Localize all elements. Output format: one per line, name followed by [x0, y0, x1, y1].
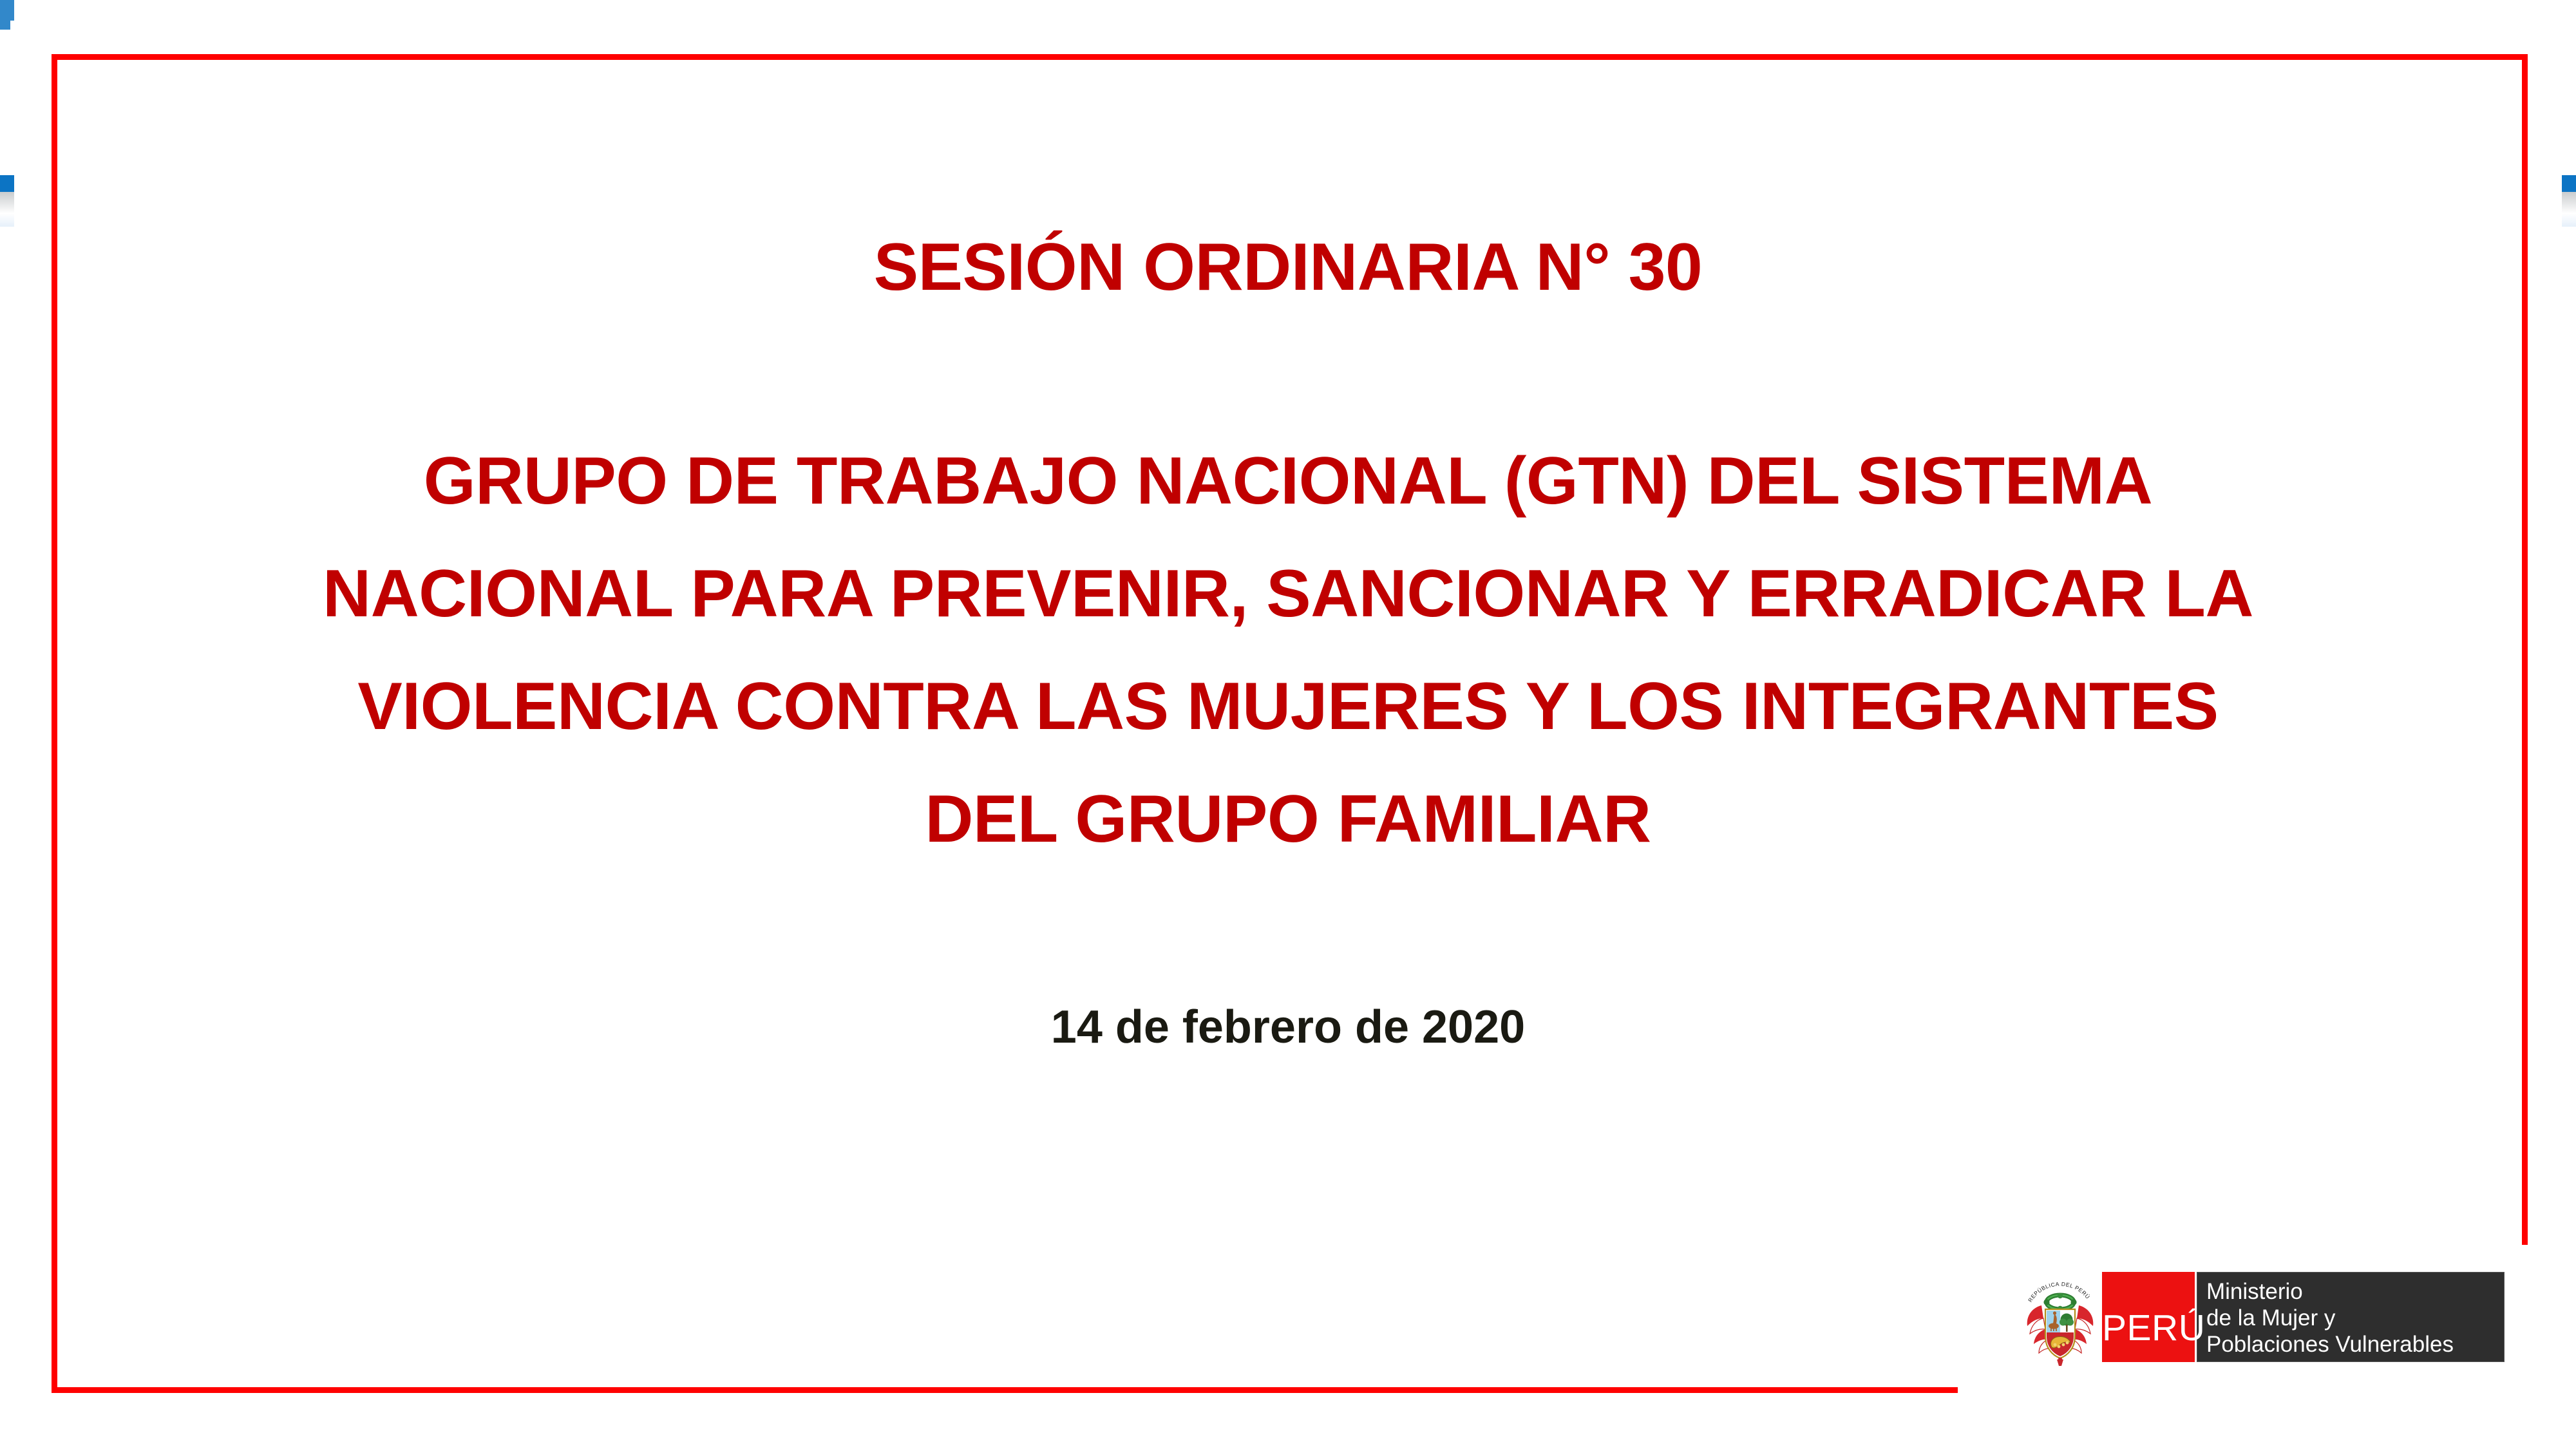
session-date: 14 de febrero de 2020 — [103, 998, 2473, 1056]
session-title: SESIÓN ORDINARIA N° 30 — [103, 219, 2473, 316]
selection-handle-left[interactable] — [0, 175, 14, 227]
frame-border-top — [52, 54, 2528, 60]
ministry-line-3: Poblaciones Vulnerables — [2206, 1331, 2504, 1358]
slide-text-block: SESIÓN ORDINARIA N° 30 GRUPO DE TRABAJO … — [103, 219, 2473, 1056]
selection-handle-chip — [0, 175, 14, 192]
selection-handle-chip — [2562, 175, 2576, 192]
heading-line-2: NACIONAL PARA PREVENIR, SANCIONAR Y ERRA… — [103, 538, 2473, 650]
slide-canvas: SESIÓN ORDINARIA N° 30 GRUPO DE TRABAJO … — [0, 0, 2576, 1449]
selection-handle-fade — [2562, 192, 2576, 227]
selection-handle-fade — [0, 192, 14, 227]
peru-brand-block: PERÚ — [2102, 1272, 2195, 1362]
main-heading: GRUPO DE TRABAJO NACIONAL (GTN) DEL SIST… — [103, 425, 2473, 876]
title-spacer — [103, 316, 2473, 425]
heading-line-4: DEL GRUPO FAMILIAR — [103, 763, 2473, 876]
selection-handle-bottom-left[interactable] — [0, 0, 14, 21]
frame-border-bottom — [52, 1387, 1958, 1393]
date-wrapper: 14 de febrero de 2020 — [103, 998, 2473, 1056]
ministry-line-2: de la Mujer y — [2206, 1305, 2504, 1331]
svg-text:REPÚBLICA DEL PERÚ: REPÚBLICA DEL PERÚ — [2027, 1281, 2091, 1303]
ministry-line-1: Ministerio — [2206, 1278, 2504, 1305]
selection-handle-bottom-right[interactable] — [0, 21, 10, 30]
heading-line-1: GRUPO DE TRABAJO NACIONAL (GTN) DEL SIST… — [103, 425, 2473, 538]
selection-handle-right[interactable] — [2562, 175, 2576, 227]
peru-wordmark: PERÚ — [2102, 1310, 2195, 1347]
ministry-name-block: Ministerio de la Mujer y Poblaciones Vul… — [2197, 1272, 2505, 1362]
heading-line-3: VIOLENCIA CONTRA LAS MUJERES Y LOS INTEG… — [103, 650, 2473, 763]
peru-coat-of-arms-icon: REPÚBLICA DEL PERÚ — [2022, 1272, 2098, 1368]
frame-border-left — [52, 54, 57, 1393]
frame-border-right — [2522, 54, 2528, 1245]
mimp-logo: REPÚBLICA DEL PERÚ — [2022, 1272, 2505, 1368]
